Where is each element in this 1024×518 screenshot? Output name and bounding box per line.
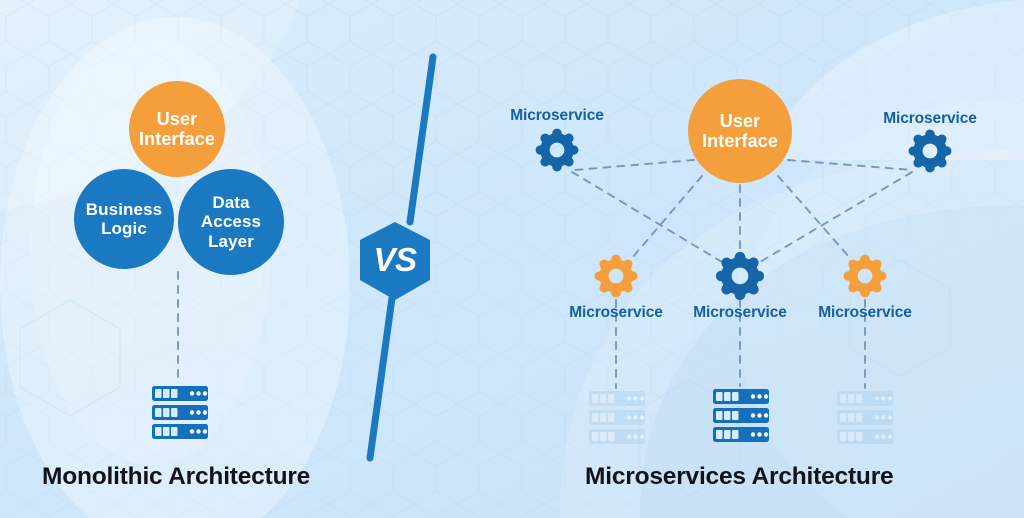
- microservice-bottom-right-label: Microservice: [805, 304, 925, 322]
- microservice-bottom-center-gear-icon[interactable]: [713, 249, 767, 303]
- hub-label-line2: Interface: [702, 131, 778, 151]
- monolith-caption: Monolithic Architecture: [42, 463, 310, 491]
- microservice-bottom-left-gear-icon[interactable]: [592, 252, 640, 300]
- microservice-bottom-center-label: Microservice: [680, 304, 800, 322]
- divider-slash-bottom: [370, 298, 392, 458]
- microservice-bottom-right-gear-icon[interactable]: [841, 252, 889, 300]
- microservice-top-right-label: Microservice: [870, 110, 990, 128]
- hub-label-line1: User: [702, 111, 778, 131]
- microservice-top-left-label: Microservice: [497, 107, 617, 125]
- microservice-top-left-gear-icon[interactable]: [533, 126, 581, 174]
- vs-badge-wrap[interactable]: VS: [350, 218, 440, 302]
- microservices-caption: Microservices Architecture: [585, 463, 893, 491]
- infographic-canvas: User Interface Business Logic Data Acces…: [0, 0, 1024, 518]
- microservices-database-center-server-rack-icon[interactable]: [711, 388, 771, 446]
- divider-slash-top: [410, 57, 433, 222]
- vs-badge-label: VS: [350, 218, 440, 302]
- microservice-bottom-left-label: Microservice: [556, 304, 676, 322]
- microservices-hub-user-interface[interactable]: User Interface: [688, 79, 792, 183]
- microservices-database-right-server-rack-icon[interactable]: [835, 390, 895, 448]
- microservice-top-right-gear-icon[interactable]: [906, 127, 954, 175]
- microservices-database-left-server-rack-icon[interactable]: [587, 390, 647, 448]
